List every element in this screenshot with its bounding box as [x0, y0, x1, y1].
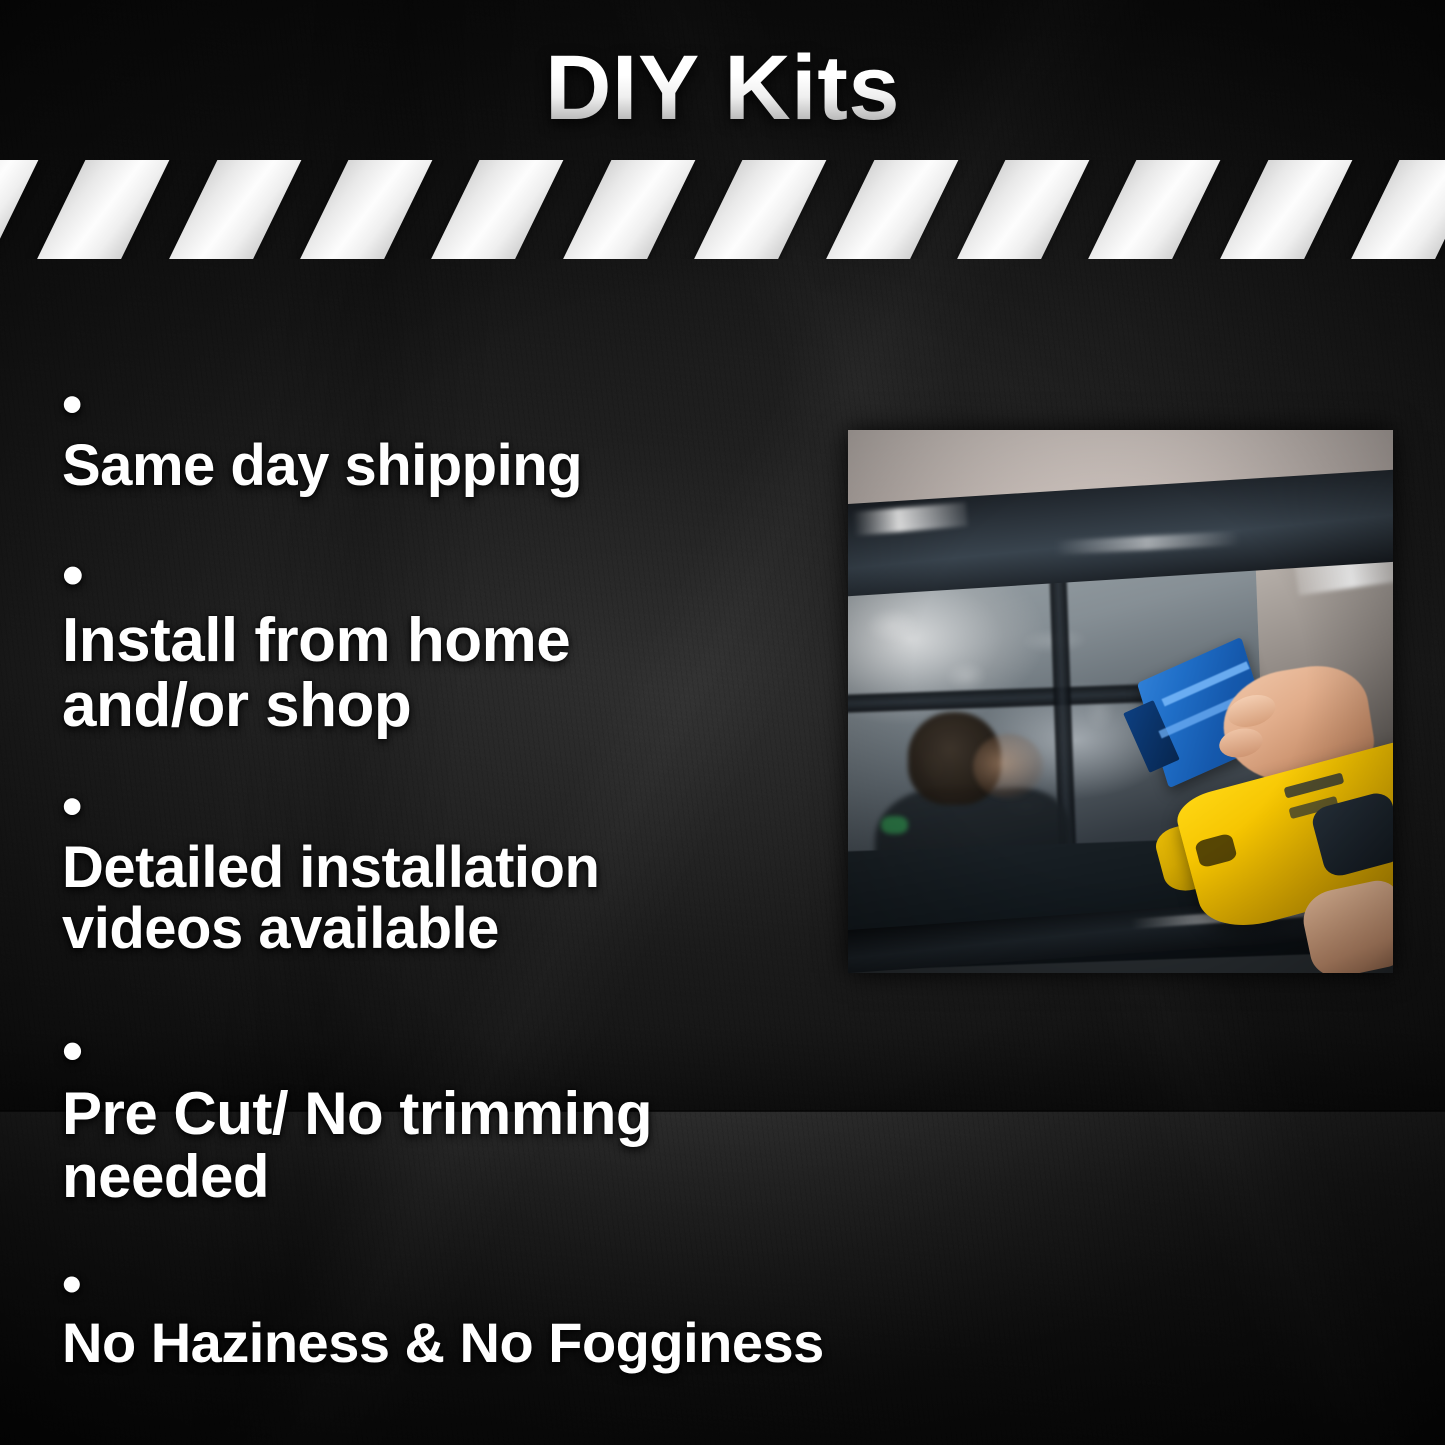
list-item-label: No Haziness & No Fogginess [62, 1311, 824, 1374]
bullet-marker: • [62, 1019, 83, 1082]
list-item: • Detailed installation videos available [62, 716, 599, 960]
bullet-marker: • [62, 1255, 81, 1314]
list-item-label: Detailed installation videos available [62, 835, 599, 961]
list-item: • Pre Cut/ No trimming needed [62, 956, 652, 1208]
list-item: • Install from home and/or shop [62, 478, 570, 738]
list-item: • Save $$$ [62, 1374, 289, 1445]
list-item: • No Haziness & No Fogginess [62, 1196, 824, 1372]
bullet-marker: • [62, 543, 83, 608]
bullet-marker: • [62, 1431, 80, 1445]
bullet-marker: • [62, 777, 82, 838]
photo-vignette [848, 430, 1393, 973]
bullet-marker: • [62, 375, 82, 436]
list-item-label: Pre Cut/ No trimming needed [62, 1080, 652, 1210]
list-item: • Same day shipping [62, 314, 582, 497]
window-tint-installation-photo [848, 430, 1393, 973]
